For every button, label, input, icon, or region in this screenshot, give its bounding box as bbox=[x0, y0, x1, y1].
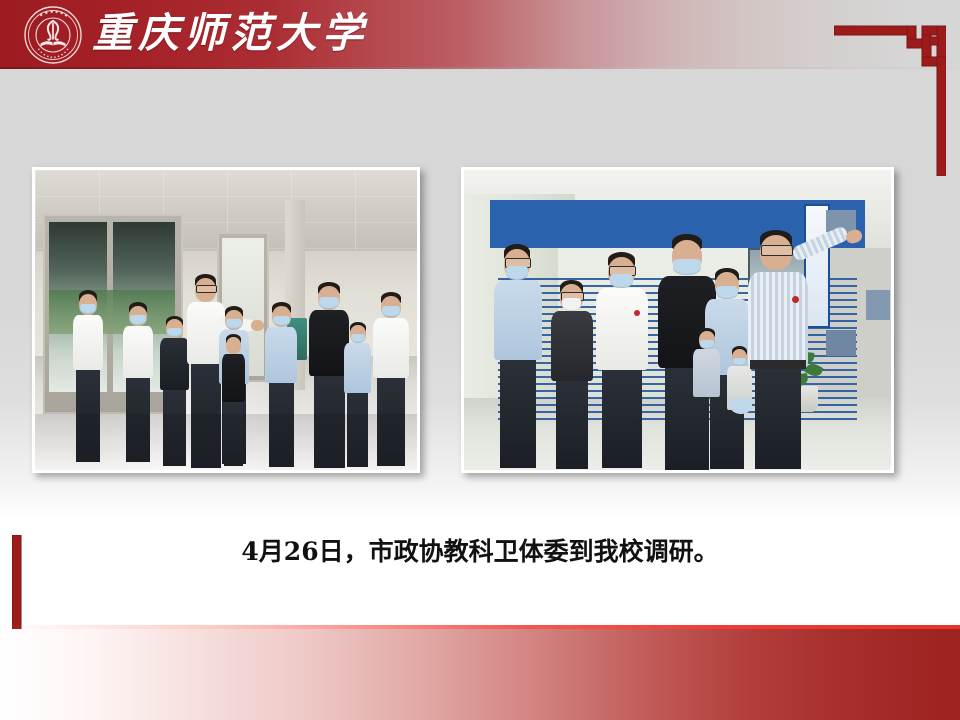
university-name-title: 重庆师范大学 bbox=[92, 4, 368, 62]
lapel-badge bbox=[792, 296, 799, 303]
lapel-badge bbox=[634, 310, 640, 316]
photo-right-scene bbox=[464, 170, 891, 470]
photo-left bbox=[32, 167, 420, 473]
footer-banner bbox=[0, 629, 960, 720]
display-photo bbox=[826, 330, 856, 356]
photo-right bbox=[461, 167, 894, 473]
held-face-mask bbox=[730, 398, 752, 414]
person-figure bbox=[550, 266, 594, 470]
belt bbox=[750, 360, 806, 369]
person-figure bbox=[594, 248, 650, 470]
person-figure-pointing bbox=[746, 230, 812, 470]
display-photo bbox=[866, 290, 890, 320]
slide-caption: 4月26日，市政协教科卫体委到我校调研。 bbox=[0, 532, 960, 568]
chinese-corner-ornament-top-right bbox=[834, 8, 946, 181]
person-figure bbox=[692, 310, 722, 470]
presentation-slide: 重庆师范大学 bbox=[0, 0, 960, 720]
person-figure bbox=[492, 244, 544, 470]
header-underline bbox=[0, 67, 960, 69]
photo-left-scene bbox=[35, 170, 417, 470]
university-seal-icon bbox=[24, 6, 82, 64]
floor-reflection-overlay bbox=[35, 414, 417, 470]
door-foliage-outside bbox=[49, 290, 175, 334]
